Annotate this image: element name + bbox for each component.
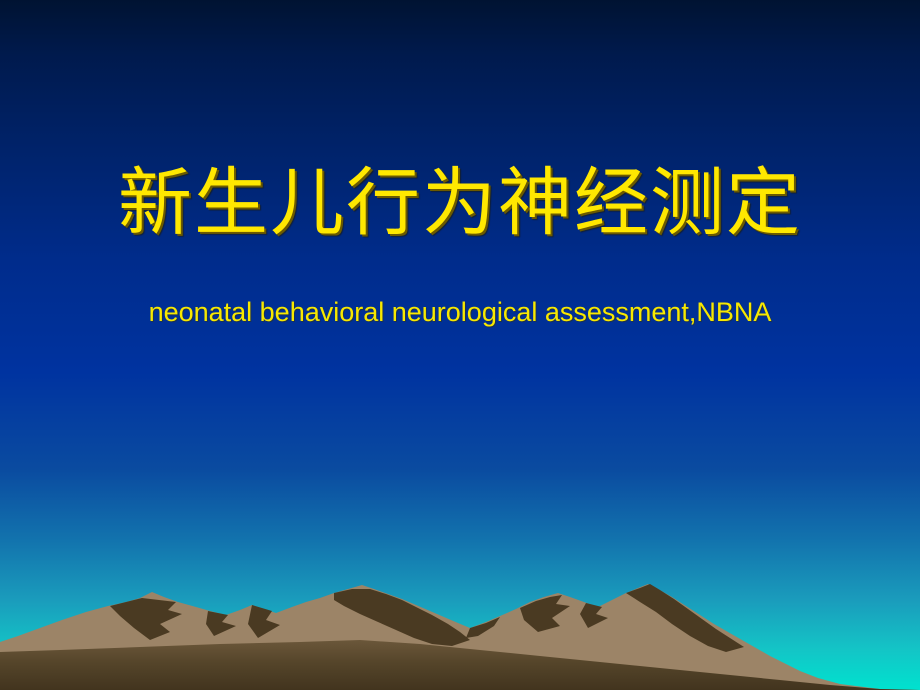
page-subtitle: neonatal behavioral neurological assessm… — [0, 296, 920, 328]
title-slide: 新生儿行为神经测定 neonatal behavioral neurologic… — [0, 0, 920, 690]
foreground-slope — [0, 630, 920, 690]
page-title: 新生儿行为神经测定 — [0, 163, 920, 243]
